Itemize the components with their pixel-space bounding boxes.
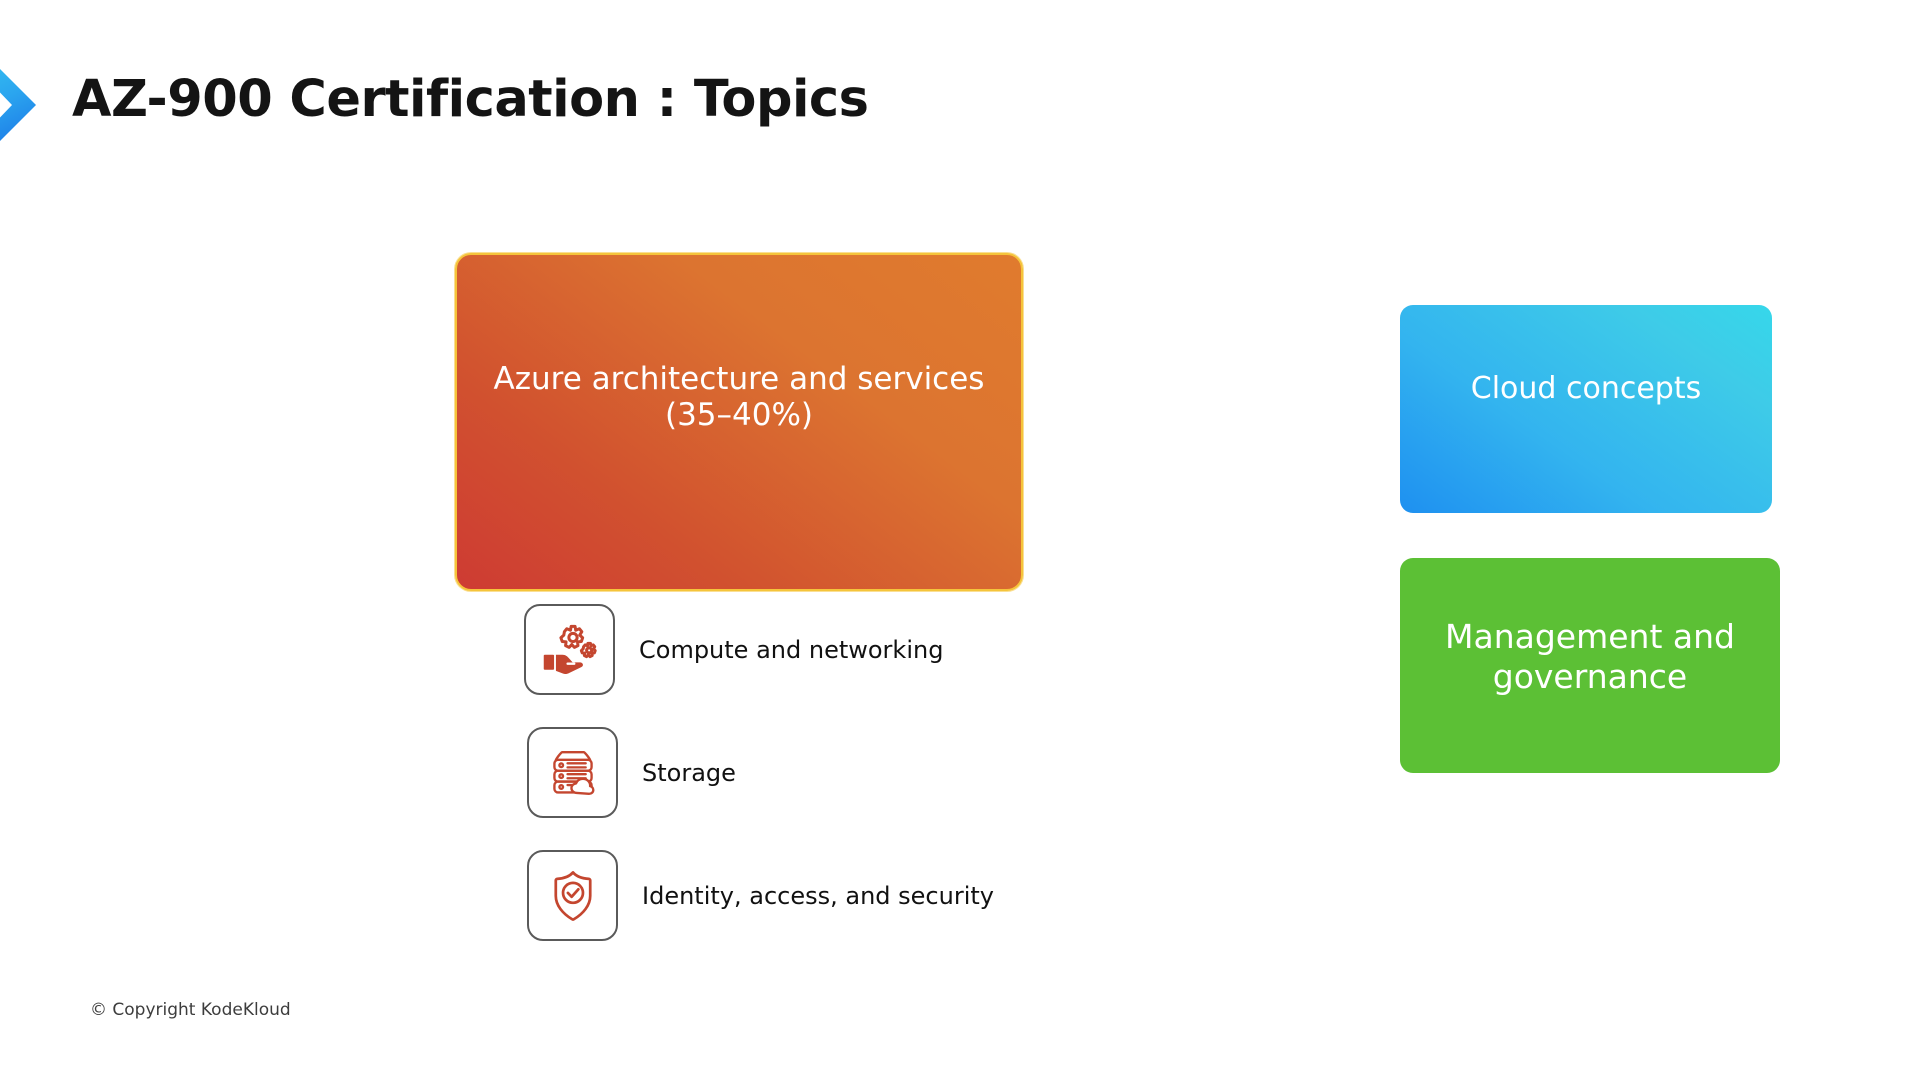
- subtopic-label-identity-access-and-security: Identity, access, and security: [642, 882, 994, 910]
- card-management-line1: Management and: [1418, 617, 1762, 657]
- subtopic-row-compute-and-networking[interactable]: Compute and networking: [524, 604, 943, 695]
- subtopic-row-storage[interactable]: Storage: [527, 727, 736, 818]
- card-management-and-governance-label: Management and governance: [1400, 617, 1780, 696]
- card-azure-architecture-label: Azure architecture and services (35–40%): [457, 361, 1021, 434]
- hand-holding-gears-icon: [524, 604, 615, 695]
- card-azure-architecture-line1: Azure architecture and services: [471, 361, 1007, 397]
- card-management-and-governance[interactable]: Management and governance: [1400, 558, 1780, 773]
- server-cloud-storage-icon: [527, 727, 618, 818]
- page-title: AZ-900 Certification : Topics: [72, 70, 869, 129]
- subtopic-row-identity-access-and-security[interactable]: Identity, access, and security: [527, 850, 994, 941]
- subtopic-label-compute-and-networking: Compute and networking: [639, 636, 943, 664]
- card-management-line2: governance: [1418, 657, 1762, 697]
- card-azure-architecture-line2: (35–40%): [471, 397, 1007, 433]
- card-cloud-concepts-label: Cloud concepts: [1400, 371, 1772, 406]
- chevron-right-icon: [0, 55, 38, 155]
- card-cloud-concepts[interactable]: Cloud concepts: [1400, 305, 1772, 513]
- copyright-text: © Copyright KodeKloud: [90, 1000, 291, 1020]
- card-azure-architecture-and-services[interactable]: Azure architecture and services (35–40%): [455, 253, 1023, 591]
- subtopic-label-storage: Storage: [642, 759, 736, 787]
- shield-check-icon: [527, 850, 618, 941]
